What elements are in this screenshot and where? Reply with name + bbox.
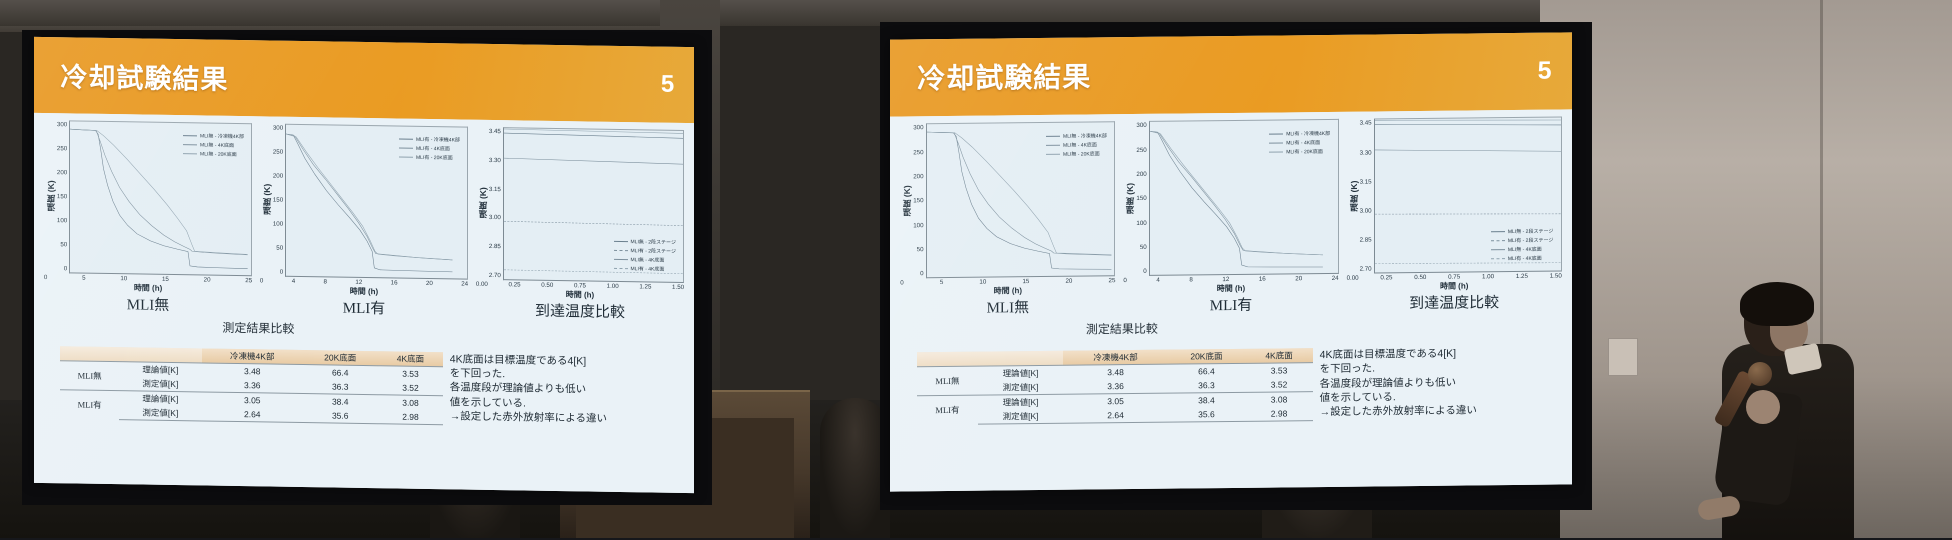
legend-label: MLI無 - 20K底面: [200, 151, 237, 159]
table-row-label: 測定値[K]: [978, 380, 1064, 395]
table-column-header: 冷凍機4K部: [202, 348, 303, 364]
chart-caption: MLI有: [260, 295, 468, 319]
table-cell: 3.05: [202, 392, 303, 408]
x-tick-label: 0: [900, 280, 903, 287]
table-cell: 2.98: [378, 409, 443, 425]
x-tick-label: 10: [979, 279, 986, 286]
legend-swatch: [614, 268, 628, 269]
series-line: [1375, 262, 1561, 265]
page-number: 5: [661, 71, 674, 99]
microphone-head: [1748, 362, 1772, 386]
legend-label: MLI有 - 4K底面: [416, 145, 450, 153]
legend-swatch: [183, 144, 197, 145]
x-tick-label: 8: [1189, 277, 1192, 284]
legend-swatch: [1046, 144, 1060, 145]
series-line: [504, 221, 683, 225]
y-tick-label: 3.30: [489, 157, 501, 164]
table-cell: 35.6: [1168, 407, 1246, 422]
series-line: [1375, 148, 1561, 153]
y-tick-label: 3.00: [1360, 207, 1372, 214]
table-column-header: 4K底面: [1245, 348, 1313, 363]
y-tick-label: 150: [57, 193, 67, 200]
slide-right: 冷却試験結果 5 温度 (K)300250200150100500MLI無 - …: [890, 32, 1572, 491]
table-header-blank: [978, 351, 1064, 366]
legend-swatch: [1046, 135, 1060, 136]
y-tick-label: 300: [57, 121, 67, 128]
y-axis-ticks: 300250200150100500: [913, 124, 925, 279]
series-line: [1375, 119, 1561, 123]
y-tick-label: 200: [913, 173, 923, 180]
y-tick-label: 200: [1136, 171, 1146, 178]
legend-label: MLI無 - 2段ステージ: [631, 238, 676, 246]
y-axis-ticks: 3.453.303.153.002.852.70: [1360, 119, 1374, 274]
results-table-wrap: 冷凍機4K部20K底面4K底面MLI無理論値[K]3.4866.43.53測定値…: [917, 348, 1313, 425]
presenter-person: [1690, 282, 1890, 538]
table-cell: 3.52: [378, 380, 443, 396]
table-row-label: 測定値[K]: [119, 405, 202, 421]
legend-swatch: [1269, 142, 1283, 143]
chart-mli-none: 温度 (K)300250200150100500MLI無 - 冷凍機4K部MLI…: [900, 122, 1115, 319]
plot-area: MLI有 - 冷凍機4K部MLI有 - 4K底面MLI有 - 20K底面: [285, 124, 468, 279]
legend-label: MLI有 - 20K底面: [1286, 148, 1323, 155]
y-tick-label: 100: [57, 217, 67, 224]
legend-swatch: [399, 148, 413, 149]
series-line: [504, 129, 683, 133]
legend-label: MLI有 - 4K底面: [631, 265, 665, 273]
legend-label: MLI有 - 4K底面: [1508, 255, 1542, 262]
table-header-blank: [119, 347, 202, 363]
page-title: 冷却試験結果: [60, 56, 228, 98]
plot-area: MLI無 - 冷凍機4K部MLI無 - 4K底面MLI無 - 20K底面: [926, 122, 1116, 279]
x-tick-label: 0: [260, 277, 263, 284]
slide-content: 温度 (K)300250200150100500MLI無 - 冷凍機4K部MLI…: [34, 113, 694, 494]
table-cell: 3.08: [378, 395, 443, 411]
page-number: 5: [1538, 57, 1552, 86]
legend-entry: MLI無 - 4K底面: [183, 141, 244, 149]
y-axis-label: 温度 (K): [900, 124, 913, 279]
legend-swatch: [1046, 153, 1060, 154]
legend-label: MLI無 - 4K底面: [200, 142, 234, 150]
y-tick-label: 0: [64, 265, 67, 272]
legend-label: MLI無 - 20K底面: [1063, 150, 1100, 157]
y-tick-label: 3.00: [489, 214, 501, 221]
plot-area: MLI無 - 冷凍機4K部MLI無 - 4K底面MLI無 - 20K底面: [69, 121, 252, 276]
table-cell: 38.4: [303, 394, 378, 410]
chart-caption: 到達温度比較: [1347, 291, 1562, 314]
legend-swatch: [614, 241, 628, 242]
table-cell: 2.98: [1245, 406, 1313, 421]
legend-swatch: [1491, 231, 1505, 232]
y-tick-label: 300: [913, 125, 923, 132]
table-group-label: MLI無: [917, 366, 977, 396]
y-tick-label: 300: [273, 125, 283, 132]
x-tick-label: 0: [44, 274, 47, 281]
chart-legend: MLI無 - 2段ステージMLI有 - 2段ステージMLI無 - 4K底面MLI…: [614, 238, 676, 273]
charts-row: 温度 (K)300250200150100500MLI無 - 冷凍機4K部MLI…: [900, 117, 1562, 319]
page-title: 冷却試験結果: [917, 56, 1091, 98]
x-tick-label: 5: [82, 274, 85, 281]
y-tick-label: 50: [276, 244, 283, 251]
chart-legend: MLI無 - 2段ステージMLI有 - 2段ステージMLI無 - 4K底面MLI…: [1491, 228, 1553, 263]
y-tick-label: 3.30: [1360, 149, 1372, 156]
y-tick-label: 2.85: [489, 243, 501, 250]
y-tick-label: 150: [1136, 195, 1146, 202]
projection-screen-left: 冷却試験結果 5 温度 (K)300250200150100500MLI無 - …: [22, 30, 712, 505]
legend-label: MLI有 - 4K底面: [1286, 139, 1320, 146]
y-tick-label: 3.15: [489, 186, 501, 193]
legend-entry: MLI有 - 4K底面: [1269, 138, 1330, 146]
legend-entry: MLI無 - 20K底面: [183, 150, 244, 158]
table-header-blank: [917, 352, 977, 367]
slide-header-bar: 冷却試験結果 5: [890, 32, 1572, 116]
legend-entry: MLI無 - 2段ステージ: [1491, 228, 1553, 236]
legend-swatch: [1491, 258, 1505, 259]
y-tick-label: 200: [273, 173, 283, 180]
y-tick-label: 2.70: [1360, 266, 1372, 273]
x-tick-label: 5: [940, 279, 943, 286]
table-column-header: 20K底面: [303, 350, 378, 366]
legend-swatch: [183, 135, 197, 136]
series-line: [504, 133, 683, 138]
legend-label: MLI無 - 4K底面: [631, 256, 665, 264]
legend-entry: MLI有 - 4K底面: [399, 145, 460, 153]
legend-entry: MLI無 - 冷凍機4K部: [1046, 132, 1107, 140]
table-cell: 3.53: [1245, 363, 1313, 378]
presenter-hair: [1740, 282, 1814, 326]
table-row-label: 測定値[K]: [119, 376, 202, 392]
table-row-label: 測定値[K]: [978, 409, 1064, 424]
y-tick-label: 100: [913, 222, 923, 229]
table-cell: 36.3: [303, 379, 378, 395]
legend-entry: MLI無 - 2段ステージ: [614, 238, 676, 246]
series-line: [1375, 123, 1561, 127]
measurement-comparison-caption: 測定結果比較: [945, 318, 1300, 339]
legend-label: MLI無 - 4K底面: [1063, 141, 1097, 148]
projection-screen-right: 冷却試験結果 5 温度 (K)300250200150100500MLI無 - …: [880, 22, 1592, 510]
table-cell: 3.36: [202, 377, 303, 393]
plot-area: MLI無 - 2段ステージMLI有 - 2段ステージMLI無 - 4K底面MLI…: [503, 127, 684, 282]
table-column-header: 冷凍機4K部: [1063, 350, 1167, 366]
y-axis-label: 温度 (K): [1123, 121, 1136, 276]
x-tick-label: 4: [292, 278, 295, 285]
legend-entry: MLI有 - 4K底面: [1491, 255, 1553, 263]
y-tick-label: 100: [273, 220, 283, 227]
y-tick-label: 50: [60, 241, 67, 248]
series-line: [1375, 213, 1561, 217]
y-axis-ticks: 300250200150100500: [57, 120, 69, 273]
y-axis-label: 温度 (K): [476, 127, 489, 280]
slide-content: 温度 (K)300250200150100500MLI無 - 冷凍機4K部MLI…: [890, 109, 1572, 491]
chart-mli-yes: 温度 (K)300250200150100500MLI有 - 冷凍機4K部MLI…: [260, 124, 468, 320]
table-cell: 2.64: [1063, 408, 1167, 424]
charts-row: 温度 (K)300250200150100500MLI無 - 冷凍機4K部MLI…: [44, 120, 684, 323]
table-group-label: MLI有: [917, 395, 977, 425]
legend-label: MLI無 - 4K底面: [1508, 246, 1542, 253]
table-group-label: MLI有: [60, 390, 118, 420]
legend-swatch: [1269, 151, 1283, 152]
legend-swatch: [399, 139, 413, 140]
y-tick-label: 250: [1136, 147, 1146, 154]
legend-swatch: [614, 250, 628, 251]
table-cell: 3.36: [1063, 379, 1167, 395]
legend-entry: MLI無 - 冷凍機4K部: [183, 132, 244, 140]
wall-switch-plate: [1608, 338, 1638, 376]
table-cell: 3.52: [1245, 377, 1313, 392]
y-tick-label: 3.45: [1360, 120, 1372, 127]
chart-caption: 到達温度比較: [476, 298, 684, 322]
y-tick-label: 2.70: [489, 272, 501, 279]
table-cell: 3.53: [378, 366, 443, 382]
legend-label: MLI有 - 冷凍機4K部: [1286, 129, 1330, 136]
x-tick-label: 8: [324, 278, 327, 285]
table-cell: 38.4: [1168, 393, 1246, 408]
y-tick-label: 200: [57, 169, 67, 176]
legend-entry: MLI有 - 2段ステージ: [1491, 237, 1553, 245]
legend-entry: MLI有 - 20K底面: [399, 154, 460, 162]
x-tick-label: 15: [1022, 279, 1029, 286]
legend-entry: MLI有 - 冷凍機4K部: [1269, 129, 1330, 137]
y-tick-label: 0: [280, 268, 283, 275]
legend-entry: MLI無 - 20K底面: [1046, 150, 1107, 158]
legend-swatch: [1491, 240, 1505, 241]
table-cell: 66.4: [303, 365, 378, 381]
y-tick-label: 300: [1136, 122, 1146, 129]
table-row-label: 理論値[K]: [978, 365, 1064, 380]
legend-label: MLI無 - 2段ステージ: [1508, 228, 1553, 235]
table-column-header: 20K底面: [1168, 349, 1246, 364]
table-cell: 3.05: [1063, 393, 1167, 409]
results-table: 冷凍機4K部20K底面4K底面MLI無理論値[K]3.4866.43.53測定値…: [60, 346, 443, 425]
y-axis-ticks: 300250200150100500: [273, 124, 285, 277]
legend-entry: MLI有 - 20K底面: [1269, 147, 1330, 155]
chart-legend: MLI有 - 冷凍機4K部MLI有 - 4K底面MLI有 - 20K底面: [399, 136, 460, 162]
legend-swatch: [1491, 249, 1505, 250]
y-tick-label: 2.85: [1360, 237, 1372, 244]
legend-entry: MLI有 - 4K底面: [614, 265, 676, 273]
table-cell: 36.3: [1168, 378, 1246, 393]
x-tick-label: 0: [1123, 277, 1126, 284]
results-table-wrap: 冷凍機4K部20K底面4K底面MLI無理論値[K]3.4866.43.53測定値…: [60, 346, 443, 425]
y-tick-label: 3.45: [489, 128, 501, 135]
presenter-hand: [1746, 390, 1780, 424]
y-axis-label: 温度 (K): [260, 124, 273, 277]
series-line: [504, 158, 683, 164]
table-cell: 3.08: [1245, 392, 1313, 407]
table-cell: 3.48: [1063, 364, 1167, 380]
legend-swatch: [614, 259, 628, 260]
legend-swatch: [183, 153, 197, 154]
y-tick-label: 250: [273, 149, 283, 156]
legend-entry: MLI無 - 4K底面: [1491, 246, 1553, 254]
analysis-note: 4K底面は目標温度である4[K] を下回った. 各温度段が理論値よりも低い 値を…: [450, 352, 681, 426]
legend-entry: MLI無 - 4K底面: [614, 256, 676, 264]
table-row-label: 理論値[K]: [978, 394, 1064, 409]
chart-caption: MLI無: [900, 296, 1115, 319]
plot-area: MLI有 - 冷凍機4K部MLI有 - 4K底面MLI有 - 20K底面: [1149, 119, 1339, 276]
chart-final-temp: 温度 (K)3.453.303.153.002.852.70MLI無 - 2段ス…: [1347, 117, 1562, 314]
slide-left: 冷却試験結果 5 温度 (K)300250200150100500MLI無 - …: [34, 37, 694, 493]
y-axis-ticks: 300250200150100500: [1136, 121, 1148, 276]
y-axis-label: 温度 (K): [44, 120, 57, 273]
legend-swatch: [399, 157, 413, 158]
y-tick-label: 3.15: [1360, 178, 1372, 185]
table-column-header: 4K底面: [378, 351, 443, 367]
chart-caption: MLI有: [1123, 293, 1338, 316]
y-tick-label: 250: [913, 149, 923, 156]
legend-label: MLI有 - 冷凍機4K部: [416, 136, 460, 144]
chart-legend: MLI有 - 冷凍機4K部MLI有 - 4K底面MLI有 - 20K底面: [1269, 129, 1330, 155]
y-tick-label: 0: [1143, 268, 1146, 275]
chart-legend: MLI無 - 冷凍機4K部MLI無 - 4K底面MLI無 - 20K底面: [1046, 132, 1107, 158]
y-tick-label: 150: [273, 196, 283, 203]
table-row-label: 理論値[K]: [119, 391, 202, 407]
table-row-label: 理論値[K]: [119, 362, 202, 378]
plot-area: MLI無 - 2段ステージMLI有 - 2段ステージMLI無 - 4K底面MLI…: [1374, 117, 1562, 274]
table-group-label: MLI無: [60, 361, 118, 391]
y-tick-label: 100: [1136, 220, 1146, 227]
results-table: 冷凍機4K部20K底面4K底面MLI無理論値[K]3.4866.43.53測定値…: [917, 348, 1313, 425]
table-cell: 3.48: [202, 363, 303, 379]
legend-entry: MLI有 - 冷凍機4K部: [399, 136, 460, 144]
x-tick-label: 12: [1222, 276, 1229, 283]
y-tick-label: 250: [57, 145, 67, 152]
table-cell: 2.64: [202, 406, 303, 422]
y-tick-label: 0: [920, 271, 923, 278]
table-cell: 35.6: [303, 408, 378, 424]
y-axis-label: 温度 (K): [1347, 119, 1360, 274]
table-header-blank: [60, 346, 118, 361]
chart-final-temp: 温度 (K)3.453.303.153.002.852.70MLI無 - 2段ス…: [476, 127, 684, 323]
chart-mli-none: 温度 (K)300250200150100500MLI無 - 冷凍機4K部MLI…: [44, 120, 252, 316]
slide-header-bar: 冷却試験結果 5: [34, 37, 694, 123]
y-axis-ticks: 3.453.303.153.002.852.70: [489, 127, 503, 280]
chart-mli-yes: 温度 (K)300250200150100500MLI有 - 冷凍機4K部MLI…: [1123, 119, 1338, 316]
legend-swatch: [1269, 133, 1283, 134]
legend-label: MLI無 - 冷凍機4K部: [200, 133, 244, 141]
legend-label: MLI無 - 冷凍機4K部: [1063, 132, 1107, 139]
measurement-comparison-caption: 測定結果比較: [87, 317, 430, 339]
y-tick-label: 50: [1140, 244, 1147, 251]
legend-label: MLI有 - 2段ステージ: [1508, 237, 1553, 244]
legend-entry: MLI無 - 4K底面: [1046, 141, 1107, 149]
chart-caption: MLI無: [44, 292, 252, 316]
x-tick-label: 4: [1156, 277, 1159, 284]
legend-label: MLI有 - 2段ステージ: [631, 247, 676, 255]
analysis-note: 4K底面は目標温度である4[K] を下回った. 各温度段が理論値よりも低い 値を…: [1320, 346, 1559, 419]
chart-legend: MLI無 - 冷凍機4K部MLI無 - 4K底面MLI無 - 20K底面: [183, 132, 244, 158]
legend-entry: MLI有 - 2段ステージ: [614, 247, 676, 255]
table-cell: 66.4: [1168, 364, 1246, 379]
y-tick-label: 150: [913, 198, 923, 205]
legend-label: MLI有 - 20K底面: [416, 154, 453, 162]
y-tick-label: 50: [917, 246, 924, 253]
